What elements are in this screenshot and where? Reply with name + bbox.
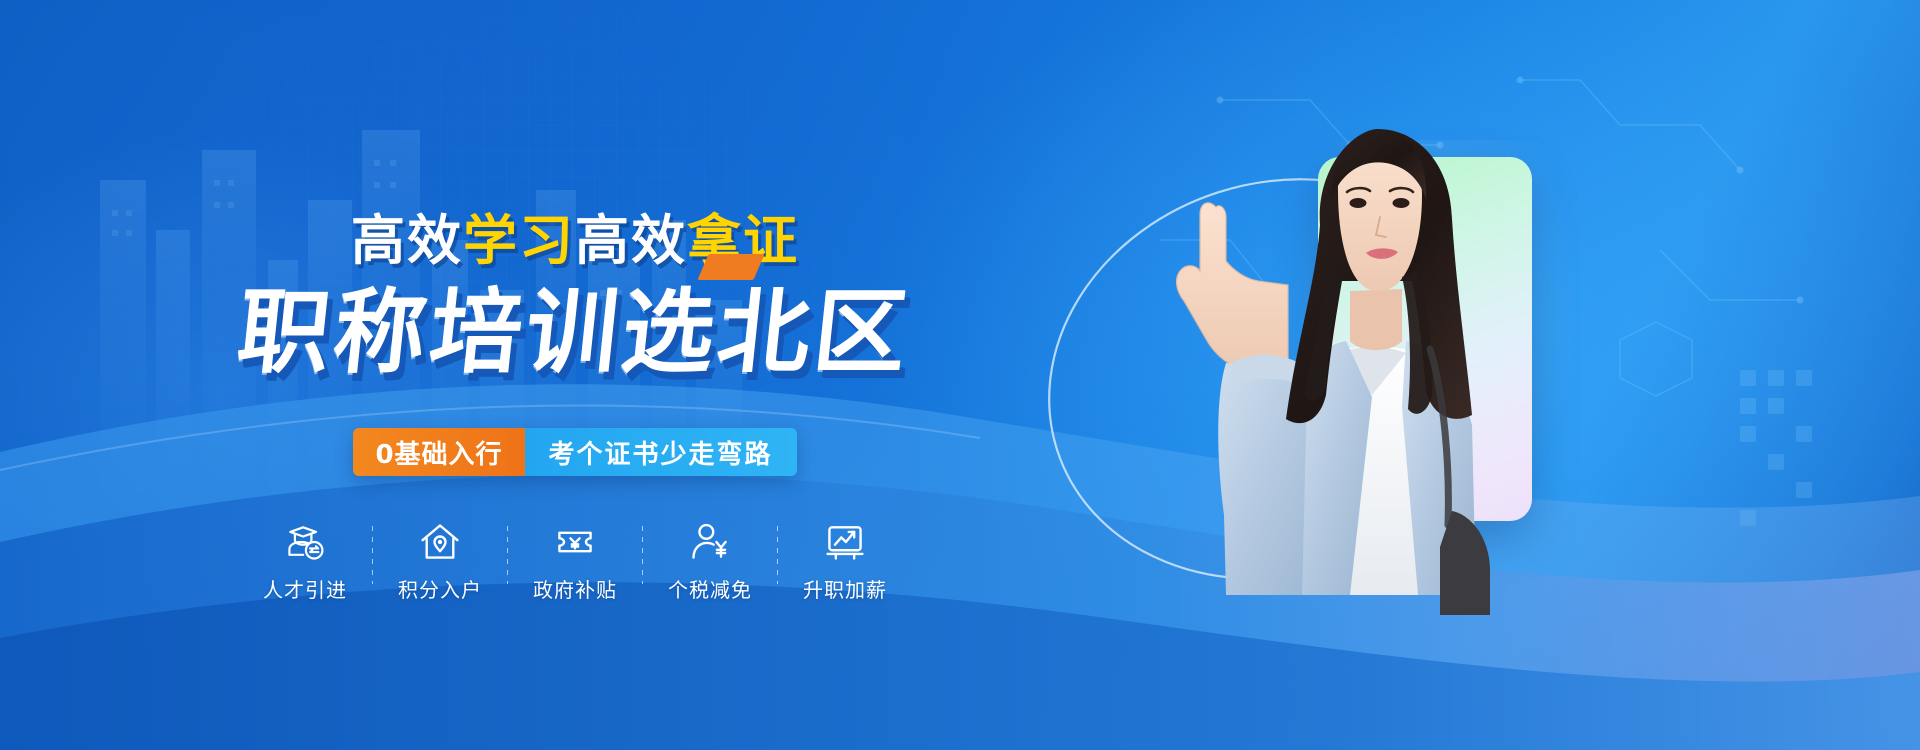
voucher-yuan-icon (553, 520, 597, 564)
growth-chart-icon (823, 520, 867, 564)
feature-label: 积分入户 (398, 574, 482, 603)
feature-list: 人才引进 积分入户 政府补贴 (0, 520, 1150, 603)
feature-label: 个税减免 (668, 574, 752, 603)
orange-accent-tab (697, 254, 764, 280)
graduate-exchange-icon (283, 520, 327, 564)
headline-line-2: 职称培训选北区 (232, 258, 918, 391)
feature-item-promotion[interactable]: 升职加薪 (778, 520, 912, 603)
subtitle-badge: 0基础入行 (353, 428, 524, 476)
headline-line-2-wrap: 职称培训选北区 (0, 258, 1150, 391)
person-yuan-icon (688, 520, 732, 564)
feature-label: 升职加薪 (803, 574, 887, 603)
feature-item-subsidy[interactable]: 政府补贴 (508, 520, 642, 603)
headline-line-2-text: 职称培训选北区 (233, 279, 916, 386)
pointing-hand (1177, 203, 1288, 373)
subtitle-text: 考个证书少走弯路 (525, 428, 797, 476)
banner-content: 高效学习高效拿证 职称培训选北区 0基础入行 考个证书少走弯路 (0, 0, 1150, 750)
feature-item-tax[interactable]: 个税减免 (643, 520, 777, 603)
house-pin-icon (418, 520, 462, 564)
feature-item-talent[interactable]: 人才引进 (238, 520, 372, 603)
feature-label: 政府补贴 (533, 574, 617, 603)
promo-banner: 高效学习高效拿证 职称培训选北区 0基础入行 考个证书少走弯路 (0, 0, 1920, 750)
feature-item-residency[interactable]: 积分入户 (373, 520, 507, 603)
subtitle-pill: 0基础入行 考个证书少走弯路 (353, 428, 796, 476)
feature-label: 人才引进 (263, 574, 347, 603)
subtitle-bar: 0基础入行 考个证书少走弯路 (0, 428, 1150, 476)
